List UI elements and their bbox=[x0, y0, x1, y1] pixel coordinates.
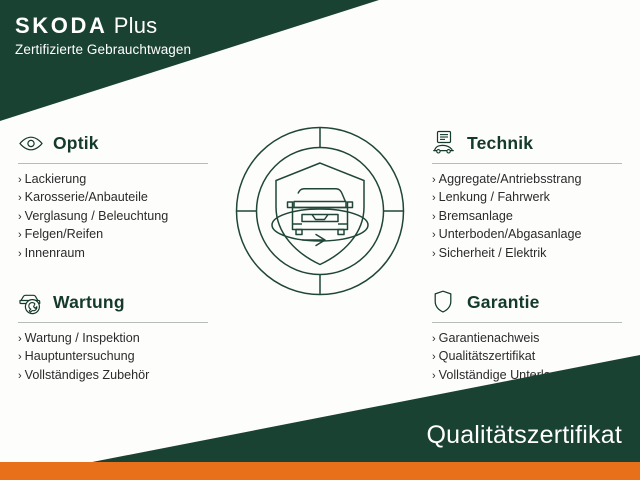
list-item-label: Hauptuntersuchung bbox=[25, 349, 135, 363]
shield-car-inspection-emblem bbox=[232, 123, 408, 299]
section-optik-title: Optik bbox=[53, 133, 99, 154]
section-optik-header: Optik bbox=[18, 128, 208, 158]
brand-tagline: Zertifizierte Gebrauchtwagen bbox=[15, 41, 315, 58]
list-item: ›Lackierung bbox=[18, 171, 208, 189]
skoda-plus-logo: SKODA Plus Zertifizierte Gebrauchtwagen bbox=[15, 14, 315, 58]
list-item-label: Vollständiges Zubehör bbox=[25, 368, 150, 382]
section-wartung: Wartung ›Wartung / Inspektion ›Hauptunte… bbox=[18, 287, 208, 385]
car-service-wrench-icon bbox=[18, 289, 48, 315]
section-technik-divider bbox=[432, 163, 622, 164]
section-wartung-list: ›Wartung / Inspektion ›Hauptuntersuchung… bbox=[18, 330, 208, 385]
section-garantie-header: Garantie bbox=[432, 287, 622, 317]
list-item-label: Karosserie/Anbauteile bbox=[25, 190, 148, 204]
chevron-right-icon: › bbox=[18, 351, 22, 363]
chevron-right-icon: › bbox=[432, 192, 436, 204]
orange-accent-bar bbox=[0, 462, 640, 480]
section-optik: Optik ›Lackierung ›Karosserie/Anbauteile… bbox=[18, 128, 208, 263]
list-item: ›Innenraum bbox=[18, 245, 208, 263]
eye-icon bbox=[18, 130, 48, 156]
list-item: ›Felgen/Reifen bbox=[18, 226, 208, 244]
chevron-right-icon: › bbox=[18, 333, 22, 345]
brand-wordmark: SKODA Plus bbox=[15, 14, 315, 38]
chevron-right-icon: › bbox=[18, 211, 22, 223]
list-item-label: Bremsanlage bbox=[439, 209, 513, 223]
brand-mark-skoda: SKODA bbox=[15, 13, 107, 38]
section-technik: Technik ›Aggregate/Antriebsstrang ›Lenku… bbox=[432, 128, 622, 263]
list-item-label: Aggregate/Antriebsstrang bbox=[439, 172, 582, 186]
chevron-right-icon: › bbox=[432, 333, 436, 345]
chevron-right-icon: › bbox=[18, 192, 22, 204]
list-item: ›Aggregate/Antriebsstrang bbox=[432, 171, 622, 189]
list-item: ›Garantienachweis bbox=[432, 330, 622, 348]
list-item: ›Karosserie/Anbauteile bbox=[18, 189, 208, 207]
list-item: ›Wartung / Inspektion bbox=[18, 330, 208, 348]
chevron-right-icon: › bbox=[432, 229, 436, 241]
list-item-label: Unterboden/Abgasanlage bbox=[439, 227, 582, 241]
section-optik-list: ›Lackierung ›Karosserie/Anbauteile ›Verg… bbox=[18, 171, 208, 263]
brand-mark-plus: Plus bbox=[107, 13, 157, 38]
list-item: ›Unterboden/Abgasanlage bbox=[432, 226, 622, 244]
right-column: Technik ›Aggregate/Antriebsstrang ›Lenku… bbox=[432, 128, 622, 385]
section-technik-title: Technik bbox=[467, 133, 533, 154]
chevron-right-icon: › bbox=[432, 370, 436, 382]
list-item: ›Verglasung / Beleuchtung bbox=[18, 208, 208, 226]
section-wartung-header: Wartung bbox=[18, 287, 208, 317]
section-garantie-title: Garantie bbox=[467, 292, 540, 313]
list-item: ›Bremsanlage bbox=[432, 208, 622, 226]
section-wartung-title: Wartung bbox=[53, 292, 125, 313]
list-item: ›Sicherheit / Elektrik bbox=[432, 245, 622, 263]
chevron-right-icon: › bbox=[432, 248, 436, 260]
chevron-right-icon: › bbox=[18, 248, 22, 260]
list-item-label: Qualitätszertifikat bbox=[439, 349, 536, 363]
list-item-label: Verglasung / Beleuchtung bbox=[25, 209, 169, 223]
list-item-label: Garantienachweis bbox=[439, 331, 540, 345]
list-item: ›Lenkung / Fahrwerk bbox=[432, 189, 622, 207]
list-item-label: Sicherheit / Elektrik bbox=[439, 246, 547, 260]
chevron-right-icon: › bbox=[432, 351, 436, 363]
chevron-right-icon: › bbox=[432, 174, 436, 186]
section-wartung-divider bbox=[18, 322, 208, 323]
list-item: ›Hauptuntersuchung bbox=[18, 348, 208, 366]
certificate-canvas: SKODA Plus Zertifizierte Gebrauchtwagen … bbox=[0, 0, 640, 480]
section-technik-header: Technik bbox=[432, 128, 622, 158]
shield-icon bbox=[432, 289, 462, 315]
list-item: ›Vollständiges Zubehör bbox=[18, 367, 208, 385]
list-item-label: Lenkung / Fahrwerk bbox=[439, 190, 550, 204]
chevron-right-icon: › bbox=[432, 211, 436, 223]
list-item-label: Felgen/Reifen bbox=[25, 227, 103, 241]
left-column: Optik ›Lackierung ›Karosserie/Anbauteile… bbox=[18, 128, 208, 385]
list-item-label: Innenraum bbox=[25, 246, 85, 260]
list-item-label: Wartung / Inspektion bbox=[25, 331, 140, 345]
footer-certificate-title: Qualitätszertifikat bbox=[426, 421, 622, 450]
car-checklist-document-icon bbox=[432, 130, 462, 156]
section-technik-list: ›Aggregate/Antriebsstrang ›Lenkung / Fah… bbox=[432, 171, 622, 263]
section-optik-divider bbox=[18, 163, 208, 164]
section-garantie-divider bbox=[432, 322, 622, 323]
chevron-right-icon: › bbox=[18, 370, 22, 382]
chevron-right-icon: › bbox=[18, 174, 22, 186]
chevron-right-icon: › bbox=[18, 229, 22, 241]
list-item-label: Lackierung bbox=[25, 172, 87, 186]
